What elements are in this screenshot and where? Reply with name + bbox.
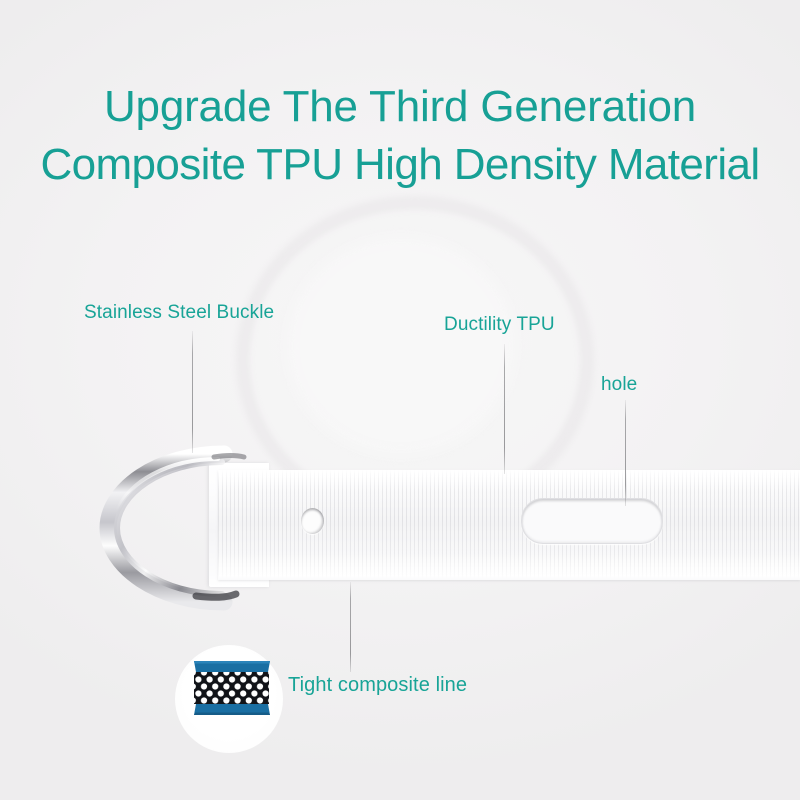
strap-oval-slot-hole [521,498,663,544]
strap-bottom-edge [218,576,800,580]
leader-line-hole [625,400,626,506]
strap-round-hole [301,508,324,534]
leader-line-ductility [504,344,505,474]
callout-label-tight-composite-line: Tight composite line [288,674,467,697]
d-ring-buckle [96,438,276,618]
background-watermark-ring [236,196,594,524]
strap-body [218,470,800,580]
product-infographic: Upgrade The Third Generation Composite T… [0,0,800,800]
page-title: Upgrade The Third Generation Composite T… [0,78,800,194]
strap-shading [218,470,800,580]
headline-line-1: Upgrade The Third Generation [0,78,800,136]
background-watermark-disc [286,236,516,456]
leader-line-composite [350,582,351,672]
strap-tail-block [209,463,269,587]
headline-line-2: Composite TPU High Density Material [0,136,800,194]
strap-top-edge [218,470,800,473]
strap-ribbed-texture [218,470,800,580]
leader-line-buckle [192,331,193,453]
callout-label-stainless-steel-buckle: Stainless Steel Buckle [84,302,274,324]
composite-layers-icon [190,655,274,721]
callout-label-hole: hole [601,374,637,396]
callout-label-ductility-tpu: Ductility TPU [444,314,555,336]
